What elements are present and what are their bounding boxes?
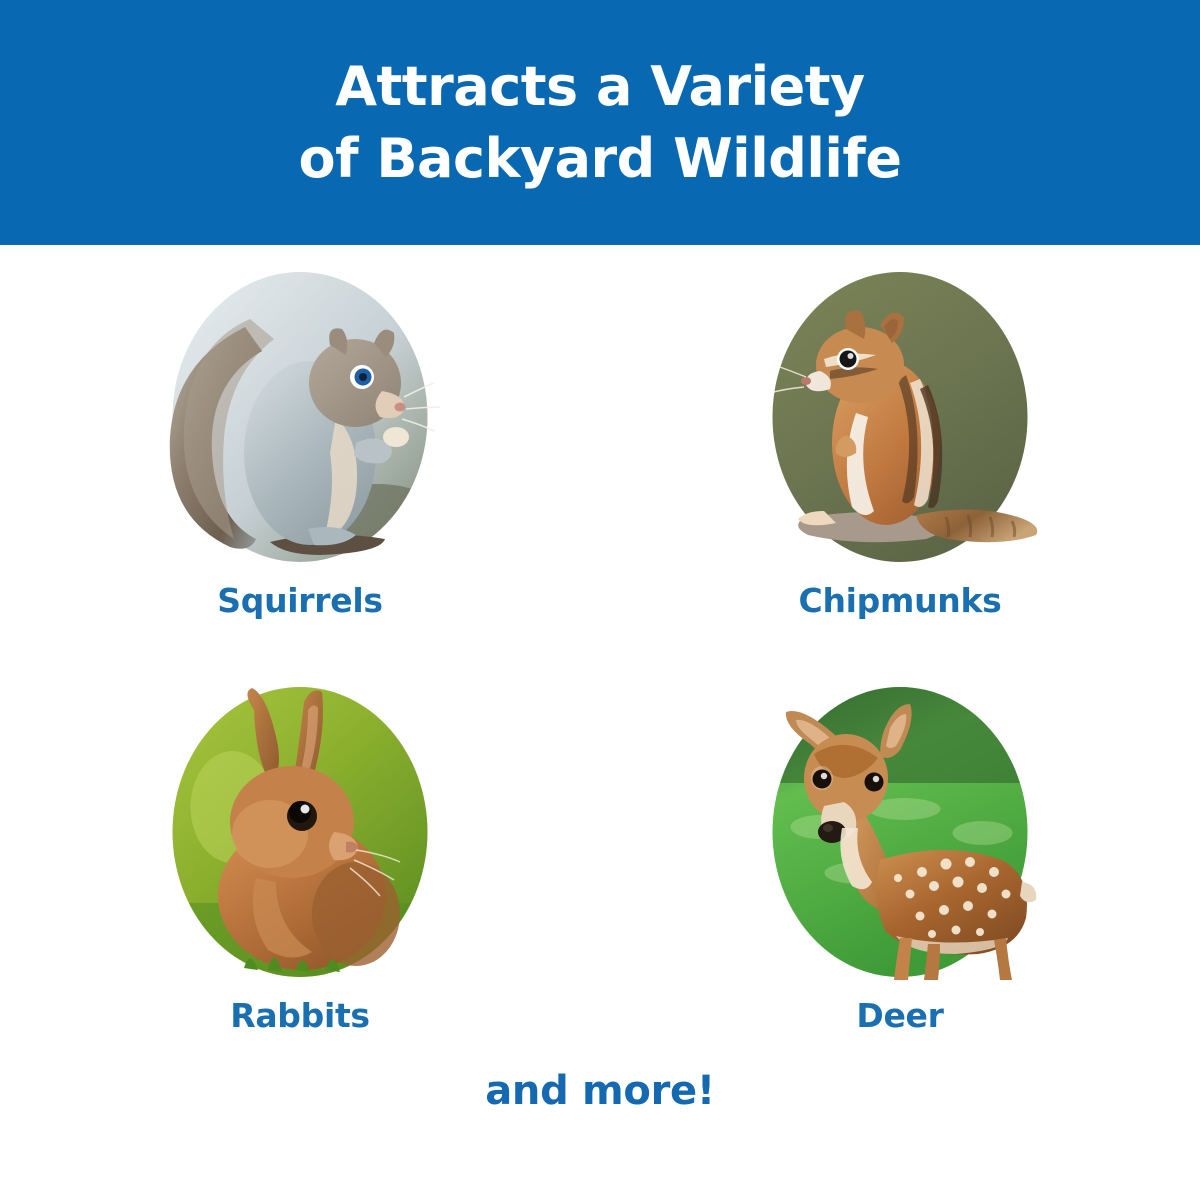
wildlife-card-label: Rabbits	[230, 996, 370, 1035]
deer-icon	[750, 682, 1050, 982]
wildlife-grid: Squirrels	[0, 245, 1200, 1075]
header-banner: Attracts a Variety of Backyard Wildlife	[0, 0, 1200, 245]
squirrel-icon	[150, 267, 450, 567]
rabbit-icon	[150, 682, 450, 982]
wildlife-card-label: Chipmunks	[799, 581, 1002, 620]
wildlife-card-label: Deer	[856, 996, 943, 1035]
rabbit-thumbnail	[150, 682, 450, 982]
wildlife-card-rabbits[interactable]: Rabbits	[0, 660, 600, 1075]
footer: and more!	[0, 1068, 1200, 1114]
deer-thumbnail	[750, 682, 1050, 982]
wildlife-card-squirrels[interactable]: Squirrels	[0, 245, 600, 660]
chipmunk-thumbnail	[750, 267, 1050, 567]
and-more-text: and more!	[485, 1068, 715, 1114]
chipmunk-icon	[750, 267, 1050, 567]
wildlife-card-chipmunks[interactable]: Chipmunks	[600, 245, 1200, 660]
wildlife-card-deer[interactable]: Deer	[600, 660, 1200, 1075]
wildlife-card-label: Squirrels	[217, 581, 382, 620]
page-title: Attracts a Variety of Backyard Wildlife	[298, 51, 901, 194]
squirrel-thumbnail	[150, 267, 450, 567]
